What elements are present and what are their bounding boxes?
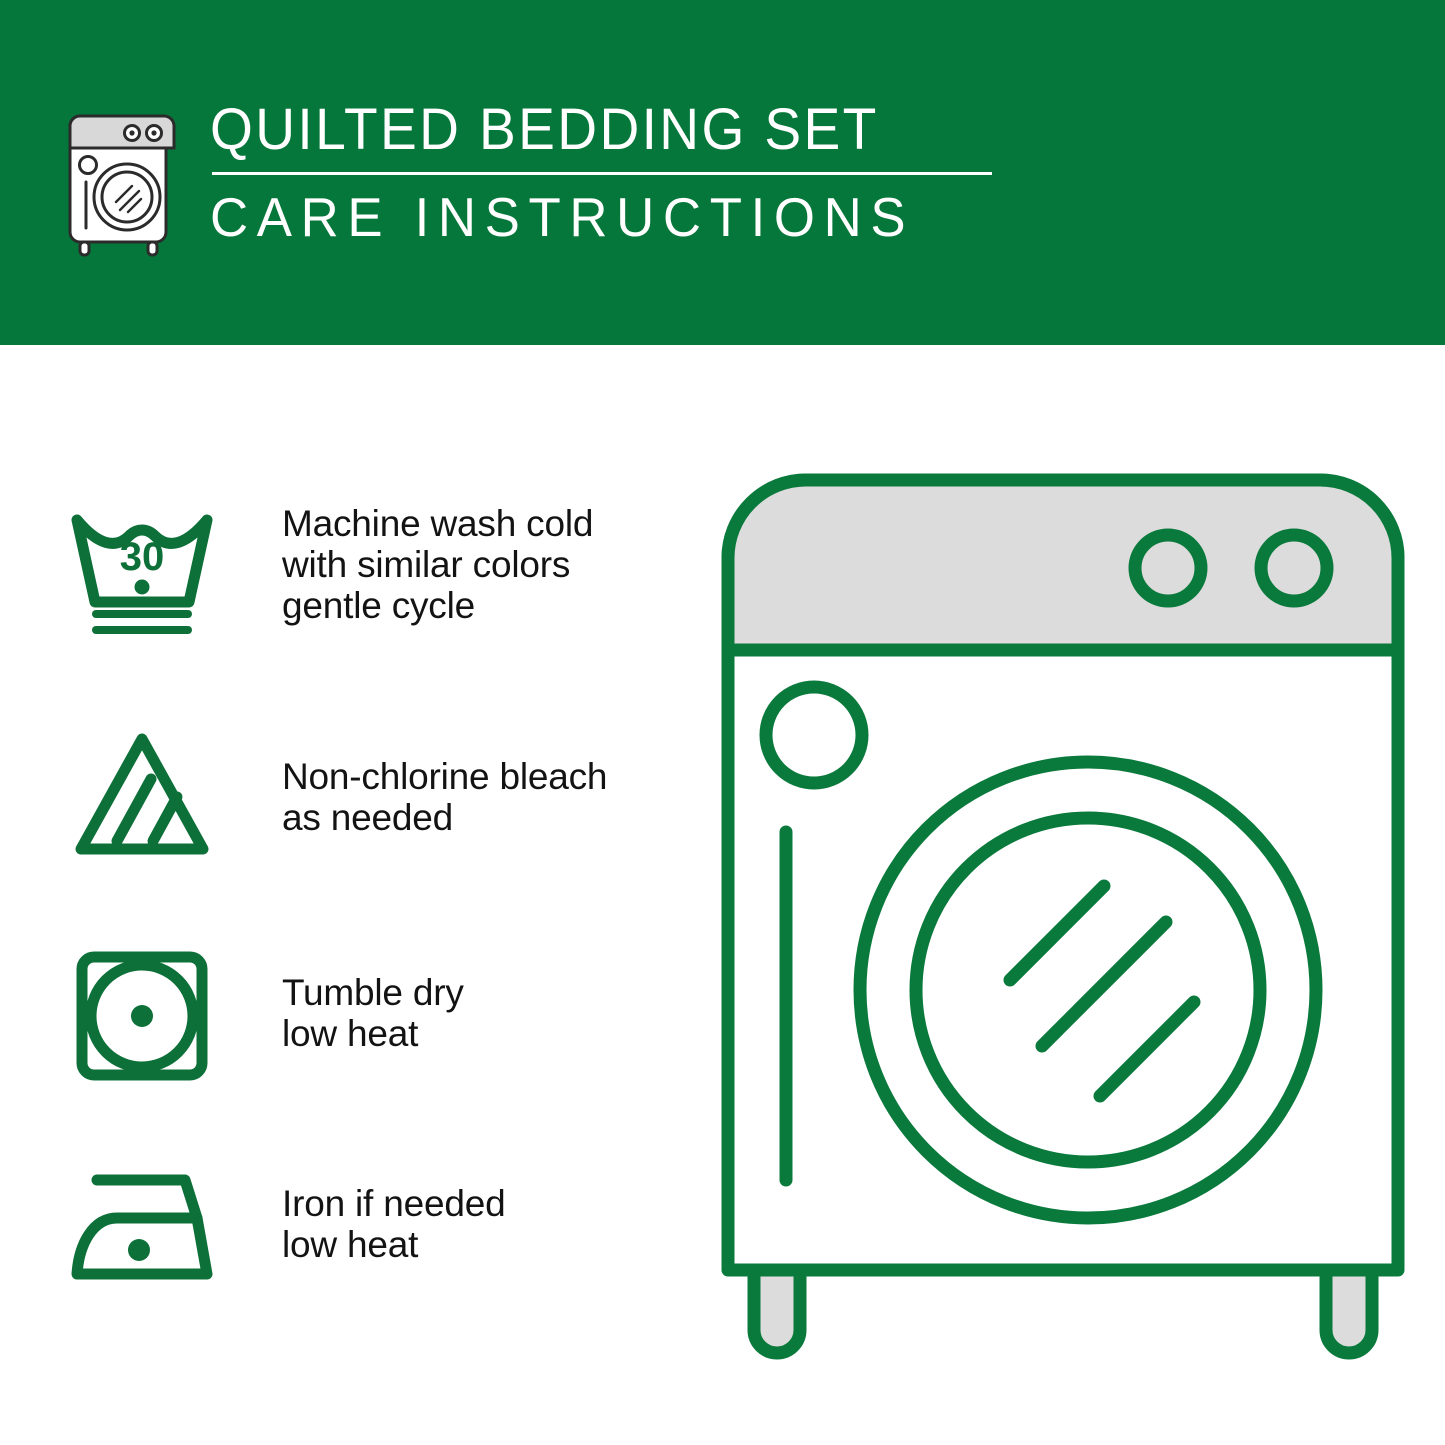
care-row-text: Machine wash cold with similar colors ge… [282, 495, 593, 626]
care-text-line: Machine wash cold [282, 503, 593, 544]
washer-indicator-light [766, 687, 862, 783]
washing-machine-icon [62, 102, 182, 257]
care-row: Iron if needed low heat [62, 1155, 682, 1305]
care-row: 30 Machine wash cold with similar colors… [62, 495, 682, 645]
header-content: QUILTED BEDDING SET CARE INSTRUCTIONS [62, 96, 992, 257]
care-text-line: low heat [282, 1013, 464, 1054]
care-text-line: as needed [282, 797, 607, 838]
washer-drum-inner [916, 818, 1260, 1162]
care-text-line: Tumble dry [282, 972, 464, 1013]
iron-low-heat-icon [62, 1155, 222, 1305]
bleach-triangle-icon [62, 720, 222, 870]
care-instructions-infographic: QUILTED BEDDING SET CARE INSTRUCTIONS 30 [0, 0, 1445, 1445]
care-row-text: Non-chlorine bleach as needed [282, 720, 607, 838]
care-text-line: Iron if needed [282, 1183, 505, 1224]
header-band: QUILTED BEDDING SET CARE INSTRUCTIONS [0, 0, 1445, 345]
wash-temperature-label: 30 [120, 535, 165, 579]
washer-knob [1261, 535, 1327, 601]
care-text-line: low heat [282, 1224, 505, 1265]
header-title-group: QUILTED BEDDING SET CARE INSTRUCTIONS [210, 96, 992, 247]
washer-knob [1135, 535, 1201, 601]
wash-tub-30-icon: 30 [62, 495, 222, 645]
care-text-line: Non-chlorine bleach [282, 756, 607, 797]
care-row: Tumble dry low heat [62, 940, 682, 1090]
care-text-line: with similar colors [282, 544, 593, 585]
page-title: QUILTED BEDDING SET [210, 98, 953, 162]
care-row-text: Tumble dry low heat [282, 940, 464, 1054]
care-row-text: Iron if needed low heat [282, 1155, 505, 1265]
page-subtitle: CARE INSTRUCTIONS [210, 187, 961, 247]
title-divider [212, 172, 992, 175]
care-text-line: gentle cycle [282, 585, 593, 626]
tumble-dry-low-icon [62, 940, 222, 1090]
care-row: Non-chlorine bleach as needed [62, 720, 682, 870]
front-load-washing-machine-illustration [718, 470, 1408, 1370]
care-instruction-list: 30 Machine wash cold with similar colors… [0, 345, 700, 1445]
